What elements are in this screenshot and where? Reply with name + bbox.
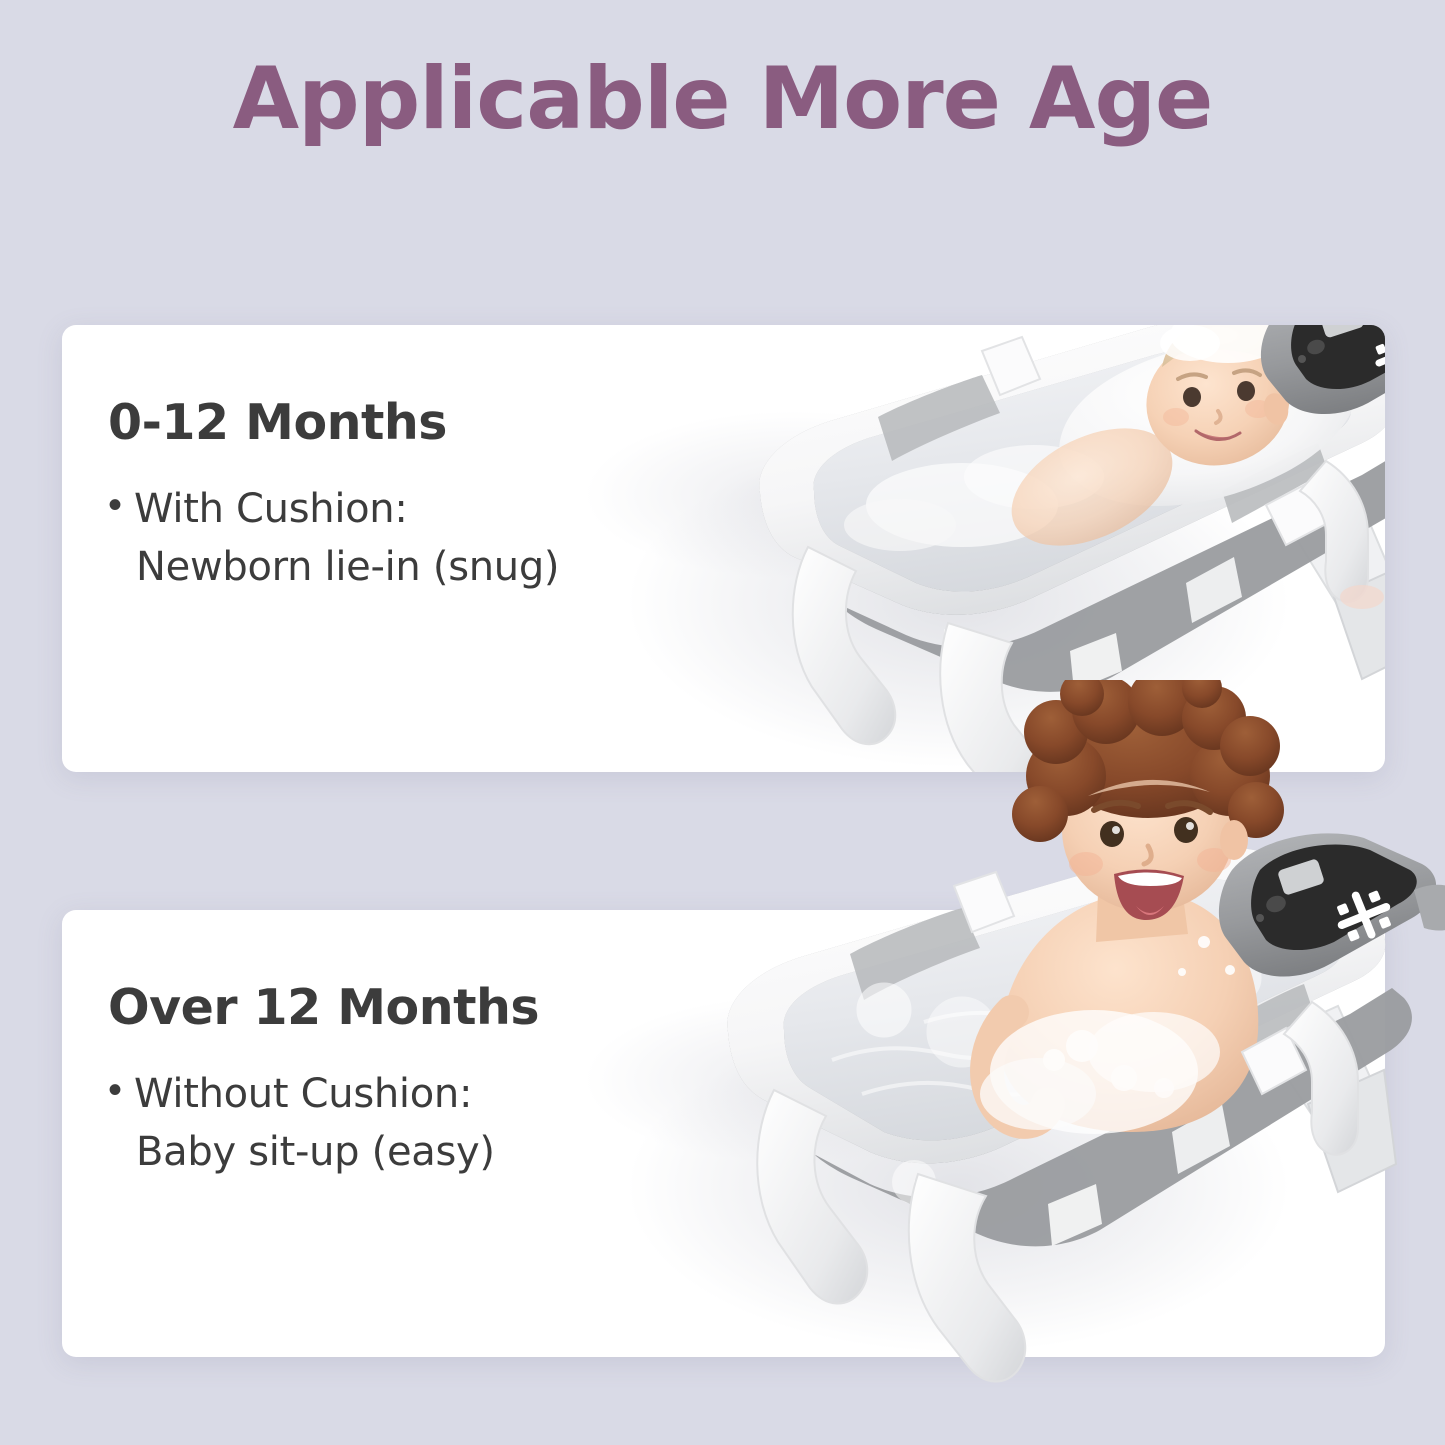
baby-head — [1133, 325, 1304, 481]
snowflake-cross-icon — [1374, 331, 1385, 378]
bullet-line-2: Newborn lie-in (snug) — [134, 544, 559, 590]
thermometer-headrest-panel — [1261, 325, 1385, 414]
baby-eye-left — [1183, 387, 1201, 407]
card-bullet-item: • With Cushion: Newborn lie-in (snug) — [108, 480, 728, 596]
folding-leg-rear — [1294, 505, 1385, 679]
card-content: Over 12 Months • Without Cushion: Baby s… — [62, 910, 1385, 1357]
folding-legs-front — [793, 461, 1368, 772]
baby-hair — [1162, 325, 1303, 379]
bullet-marker-icon: • — [108, 480, 122, 596]
tub-rim — [759, 325, 1385, 615]
temperature-display-icon — [1319, 325, 1364, 339]
bullet-text: Without Cushion: Baby sit-up (easy) — [134, 1065, 495, 1181]
bullet-line-2: Baby sit-up (easy) — [134, 1129, 495, 1175]
baby-head — [1062, 748, 1234, 912]
bullet-line-1: With Cushion: — [134, 486, 408, 532]
panel-dark-face — [1291, 325, 1385, 389]
card-bullet-item: • Without Cushion: Baby sit-up (easy) — [108, 1065, 728, 1181]
tub-rim-clips — [982, 337, 1328, 545]
bullet-line-1: Without Cushion: — [134, 1071, 472, 1117]
bath-foam — [844, 445, 1104, 551]
card-content: 0-12 Months • With Cushion: Newborn lie-… — [62, 325, 1385, 772]
card-text-block: 0-12 Months • With Cushion: Newborn lie-… — [108, 397, 728, 596]
product-image-bathtub-with-cushion — [662, 325, 1385, 772]
baby-figure-lying — [993, 325, 1304, 570]
age-card-over-12-months[interactable]: Over 12 Months • Without Cushion: Baby s… — [62, 910, 1385, 1357]
bathtub-illustration-1 — [662, 325, 1385, 772]
bullet-marker-icon: • — [108, 1065, 122, 1181]
baby-eye-right — [1174, 817, 1198, 843]
temperature-display-icon — [1277, 858, 1325, 896]
card-heading: 0-12 Months — [108, 397, 728, 448]
bullet-text: With Cushion: Newborn lie-in (snug) — [134, 480, 559, 596]
age-card-0-12-months[interactable]: 0-12 Months • With Cushion: Newborn lie-… — [62, 325, 1385, 772]
baby-cushion — [1059, 336, 1357, 506]
tub-water — [814, 345, 1351, 591]
tub-body — [759, 325, 1385, 615]
baby-eye-left — [1100, 821, 1124, 847]
infographic-root: Applicable More Age — [0, 0, 1445, 1445]
page-title: Applicable More Age — [0, 56, 1445, 142]
card-heading: Over 12 Months — [108, 982, 728, 1033]
tub-rim-grey-accents — [878, 375, 1328, 523]
baby-eye-right — [1237, 381, 1255, 401]
tub-lower-band — [810, 451, 1385, 692]
tub-band-white-patches — [944, 557, 1242, 691]
card-text-block: Over 12 Months • Without Cushion: Baby s… — [108, 982, 728, 1181]
